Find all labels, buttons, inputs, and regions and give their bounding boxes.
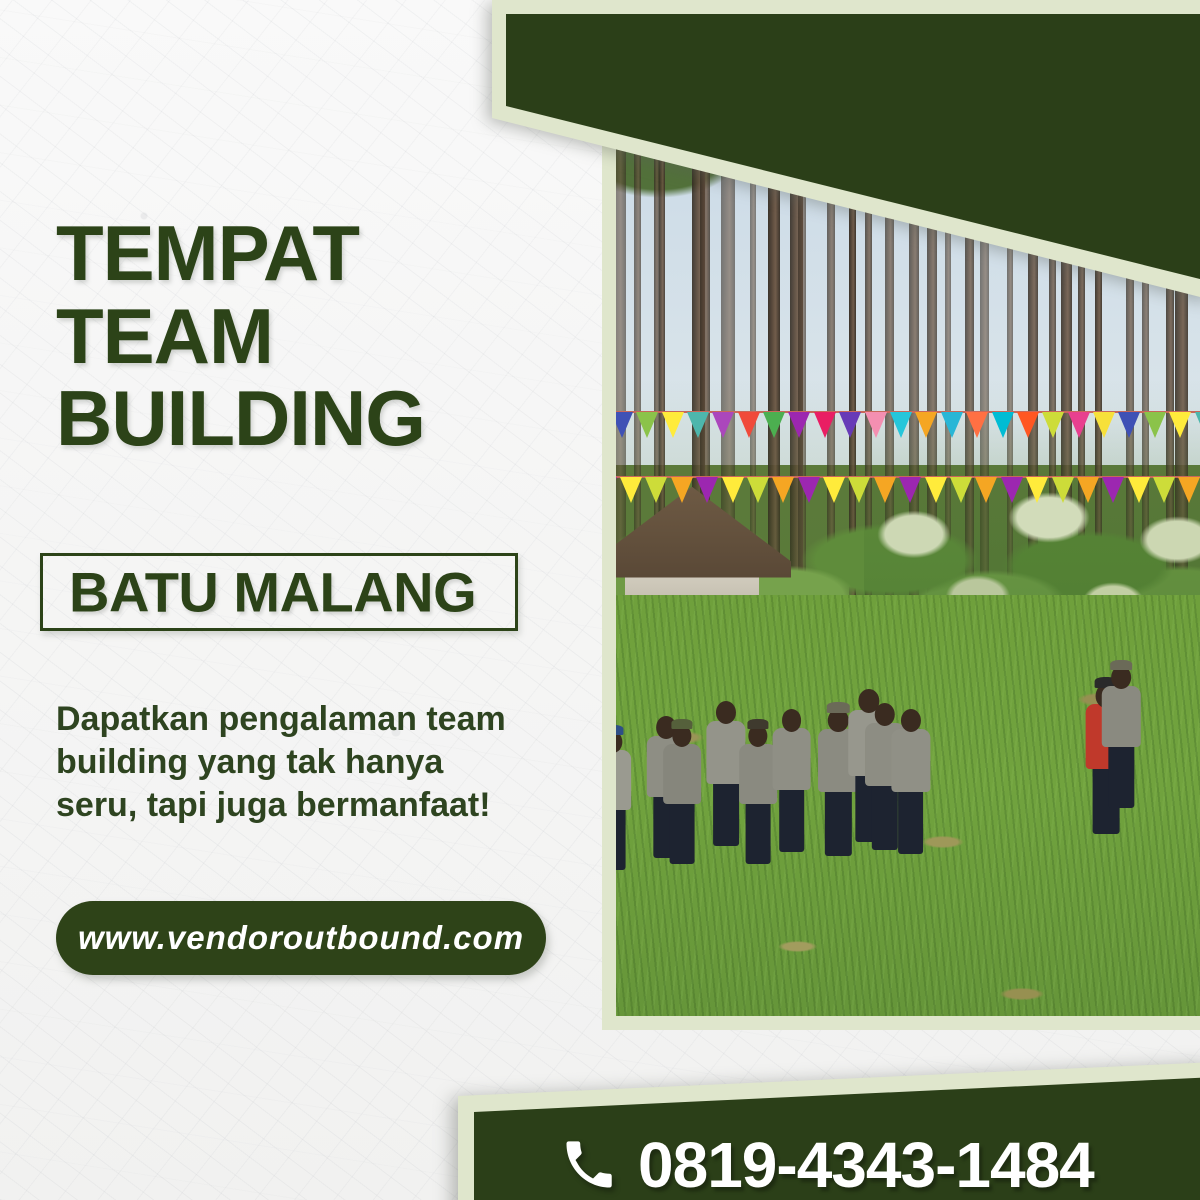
participant-torso — [772, 728, 811, 790]
participant-legs — [1109, 744, 1134, 808]
bunting-flag — [992, 412, 1014, 438]
bunting-flag — [1128, 477, 1150, 503]
participant-legs — [779, 787, 805, 852]
bunting-flag — [1144, 412, 1166, 438]
bunting-flag — [636, 412, 658, 438]
bunting-flag — [915, 412, 937, 438]
participant-cap — [747, 719, 768, 729]
bunting-flag — [1026, 477, 1048, 503]
participant — [768, 698, 815, 853]
bunting-flag — [1169, 412, 1191, 438]
participant-torso — [1102, 686, 1140, 747]
bunting-flag — [848, 477, 870, 503]
participant-head — [901, 709, 921, 732]
bunting-flag — [1077, 477, 1099, 503]
bunting-flag — [798, 477, 820, 503]
participant — [1098, 655, 1145, 808]
phone-bar-content: 0819-4343-1484 — [446, 1062, 1200, 1200]
bunting-flag — [865, 412, 887, 438]
bunting-flag — [823, 477, 845, 503]
bunting-flag — [1042, 412, 1064, 438]
headline-line-3: BUILDING — [56, 377, 526, 460]
participant — [887, 698, 935, 854]
participant-legs — [670, 801, 695, 864]
phone-number-label: 0819-4343-1484 — [638, 1128, 1094, 1200]
bunting-flag — [712, 412, 734, 438]
bunting-row-lower — [560, 476, 1200, 510]
bunting-flag — [763, 412, 785, 438]
bunting-flag — [925, 477, 947, 503]
bunting-flag — [1118, 412, 1140, 438]
bunting-flag — [899, 477, 921, 503]
bunting-flag — [941, 412, 963, 438]
participant-torso — [663, 744, 701, 804]
bunting-flag — [1178, 477, 1200, 503]
bunting-flag — [966, 412, 988, 438]
participant-legs — [898, 788, 924, 854]
bunting-flag — [772, 477, 794, 503]
bunting-flag — [814, 412, 836, 438]
bunting-flag — [687, 412, 709, 438]
bunting-flag — [1068, 412, 1090, 438]
location-badge: BATU MALANG — [40, 553, 518, 631]
bunting-flag — [645, 477, 667, 503]
bunting-flag — [620, 477, 642, 503]
bunting-flag — [1093, 412, 1115, 438]
bunting-flag — [722, 477, 744, 503]
bunting-flag — [738, 412, 760, 438]
subtitle-text: Dapatkan pengalaman team building yang t… — [56, 698, 526, 828]
bunting-flag — [1017, 412, 1039, 438]
bunting-flag — [1001, 477, 1023, 503]
bunting-flag — [662, 412, 684, 438]
participant-head — [782, 709, 802, 732]
participant-torso — [891, 729, 930, 791]
participant — [659, 714, 705, 864]
bunting-flag — [1153, 477, 1175, 503]
page-title: TEMPAT TEAM BUILDING — [56, 212, 526, 460]
poster-canvas: TEMPAT TEAM BUILDING BATU MALANG Dapatka… — [0, 0, 1200, 1200]
bunting-flag — [747, 477, 769, 503]
bunting-row-upper — [560, 411, 1200, 445]
bunting-flag — [1102, 477, 1124, 503]
bunting-flag — [975, 477, 997, 503]
phone-handset-icon — [562, 1138, 616, 1192]
bunting-flag — [874, 477, 896, 503]
website-url-label: www.vendoroutbound.com — [78, 919, 524, 957]
participant-legs — [745, 801, 770, 864]
headline-line-1: TEMPAT — [56, 212, 526, 295]
bunting-flag — [950, 477, 972, 503]
bunting-flag — [696, 477, 718, 503]
bunting-flag — [1052, 477, 1074, 503]
website-button[interactable]: www.vendoroutbound.com — [56, 901, 546, 975]
participant-cap — [1111, 660, 1133, 670]
phone-contact-bar[interactable]: 0819-4343-1484 — [446, 1062, 1200, 1200]
top-right-green-wedge — [452, 0, 1200, 300]
headline-line-2: TEAM — [56, 295, 526, 378]
participant-head — [716, 701, 736, 724]
bunting-flag — [1195, 412, 1200, 438]
bunting-flag — [788, 412, 810, 438]
location-badge-label: BATU MALANG — [69, 560, 476, 625]
participant-cap — [671, 719, 692, 729]
bunting-flag — [671, 477, 693, 503]
bunting-flag — [890, 412, 912, 438]
bunting-flag — [839, 412, 861, 438]
